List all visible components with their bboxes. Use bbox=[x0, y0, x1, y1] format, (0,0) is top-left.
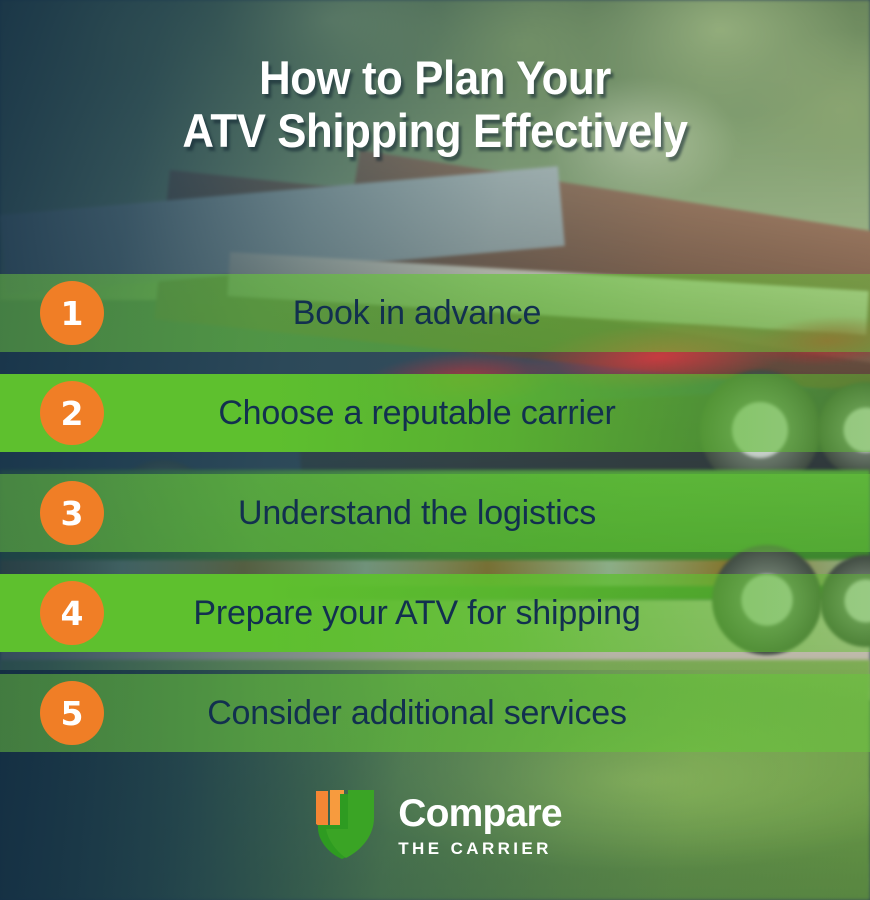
step-number: 5 bbox=[61, 697, 84, 730]
step-label: Understand the logistics bbox=[104, 494, 870, 533]
leaf-bookmark-icon bbox=[308, 788, 380, 862]
step-row: 4 Prepare your ATV for shipping bbox=[0, 574, 870, 652]
logo-name: Compare bbox=[398, 794, 561, 833]
page-title: How to Plan Your ATV Shipping Effectivel… bbox=[30, 52, 839, 157]
infographic-poster: How to Plan Your ATV Shipping Effectivel… bbox=[0, 0, 870, 900]
step-label: Choose a reputable carrier bbox=[104, 394, 870, 433]
title-line-1: How to Plan Your bbox=[30, 52, 839, 105]
step-row: 2 Choose a reputable carrier bbox=[0, 374, 870, 452]
brand-logo: Compare THE CARRIER bbox=[0, 788, 870, 862]
step-label: Prepare your ATV for shipping bbox=[104, 594, 870, 633]
logo-tagline: THE CARRIER bbox=[398, 840, 552, 857]
step-number-badge: 3 bbox=[40, 481, 104, 545]
step-number-badge: 2 bbox=[40, 381, 104, 445]
steps-list: 1 Book in advance 2 Choose a reputable c… bbox=[0, 274, 870, 774]
step-number-badge: 5 bbox=[40, 681, 104, 745]
title-line-2: ATV Shipping Effectively bbox=[30, 105, 839, 158]
step-row: 3 Understand the logistics bbox=[0, 474, 870, 552]
logo-wordmark: Compare THE CARRIER bbox=[398, 794, 561, 857]
step-number: 4 bbox=[61, 597, 84, 630]
step-number: 2 bbox=[61, 397, 84, 430]
step-label: Consider additional services bbox=[104, 694, 870, 733]
step-label: Book in advance bbox=[104, 294, 870, 333]
step-number: 1 bbox=[61, 297, 84, 330]
step-number: 3 bbox=[61, 497, 84, 530]
step-row: 5 Consider additional services bbox=[0, 674, 870, 752]
step-number-badge: 4 bbox=[40, 581, 104, 645]
step-row: 1 Book in advance bbox=[0, 274, 870, 352]
step-number-badge: 1 bbox=[40, 281, 104, 345]
